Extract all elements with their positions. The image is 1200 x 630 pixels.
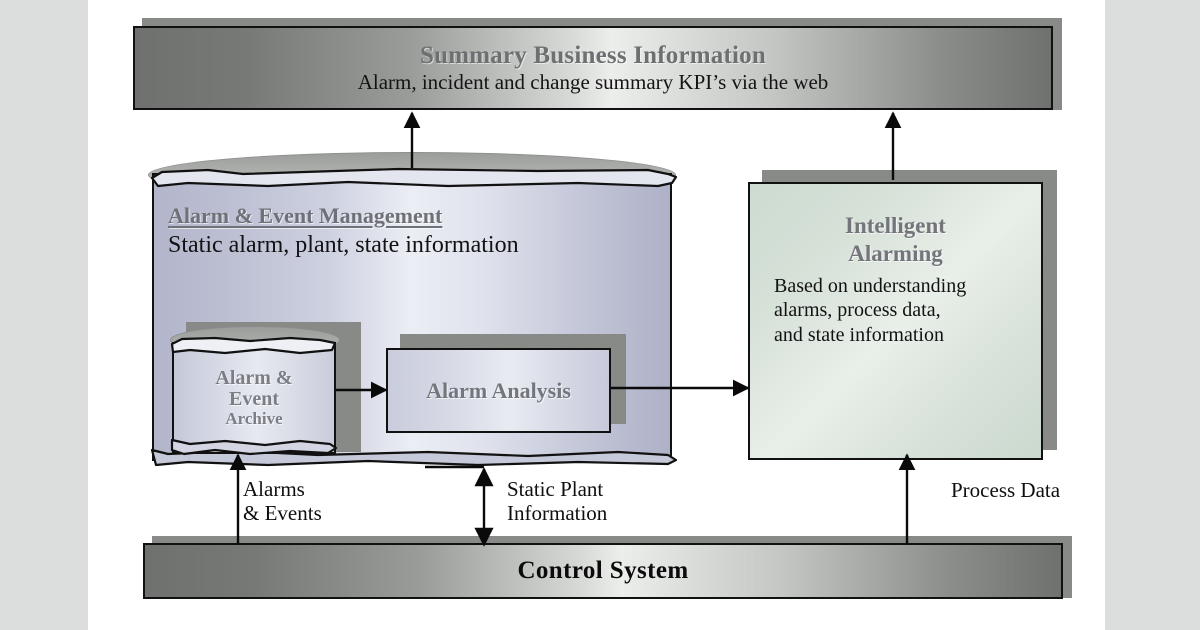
intelligent-alarming-body-line3: and state information — [750, 323, 1041, 347]
summary-business-information-banner[interactable]: Summary Business Information Alarm, inci… — [133, 26, 1053, 110]
alarm-event-management-subheading: Static alarm, plant, state information — [168, 232, 519, 259]
annotation-alarms-events-line2: & Events — [243, 501, 322, 525]
intelligent-alarming-title-line2: Alarming — [750, 240, 1041, 268]
intelligent-alarming-body-line1: Based on understanding — [750, 274, 1041, 298]
summary-banner-subtitle: Alarm, incident and change summary KPI’s… — [358, 71, 829, 95]
alarm-analysis-box[interactable]: Alarm Analysis — [386, 348, 611, 433]
left-letterbox-band — [0, 0, 88, 630]
control-system-banner[interactable]: Control System — [143, 543, 1063, 599]
annotation-process-data-line1: Process Data — [951, 478, 1060, 502]
alarm-event-management-heading: Alarm & Event Management — [168, 203, 442, 229]
annotation-process-data: Process Data — [951, 478, 1060, 502]
summary-banner-title: Summary Business Information — [420, 42, 766, 69]
annotation-alarms-events: Alarms & Events — [243, 477, 322, 526]
annotation-static-plant-information: Static Plant Information — [507, 477, 607, 526]
annotation-static-plant-line1: Static Plant — [507, 477, 607, 501]
connector-control-to-cylinder — [425, 467, 484, 545]
intelligent-alarming-box[interactable]: Intelligent Alarming Based on understand… — [748, 182, 1043, 460]
intelligent-alarming-body-line2: alarms, process data, — [750, 298, 1041, 322]
annotation-alarms-events-line1: Alarms — [243, 477, 322, 501]
archive-cylinder-jagged-edges — [170, 330, 342, 462]
annotation-static-plant-line2: Information — [507, 501, 607, 525]
alarm-analysis-label: Alarm Analysis — [426, 378, 571, 404]
diagram-canvas: Summary Business Information Alarm, inci… — [0, 0, 1200, 630]
right-letterbox-band — [1105, 0, 1200, 630]
control-system-title: Control System — [517, 557, 688, 585]
intelligent-alarming-title-line1: Intelligent — [750, 212, 1041, 240]
